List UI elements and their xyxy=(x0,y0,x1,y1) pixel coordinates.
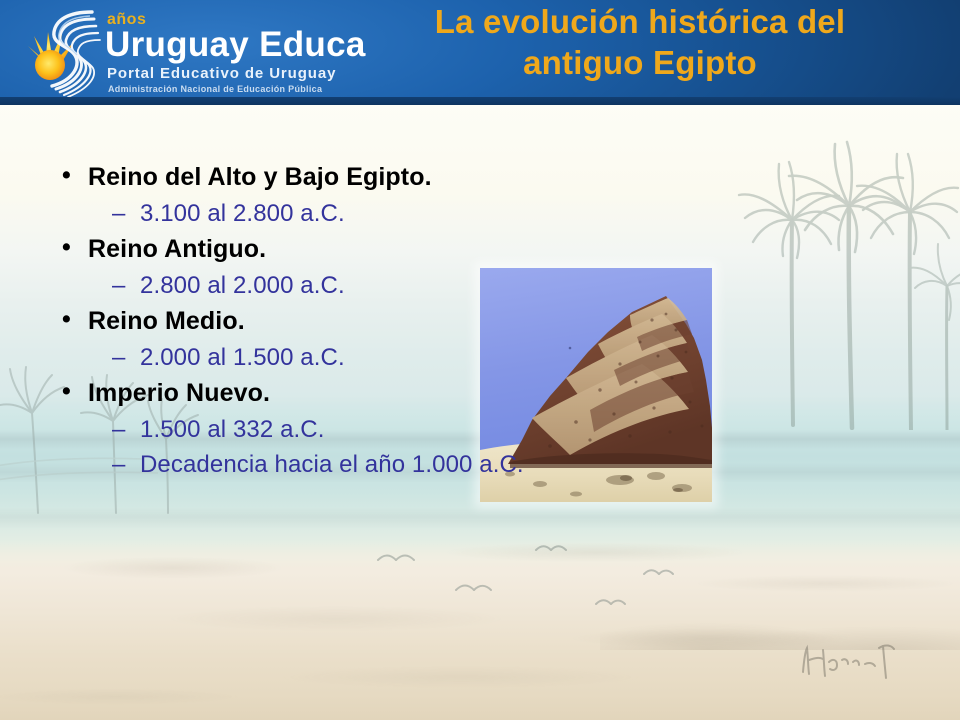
list-item: Reino del Alto y Bajo Egipto. xyxy=(0,160,960,194)
slide-title-line-1: La evolución histórica del xyxy=(340,2,940,43)
list-item: Reino Medio. xyxy=(0,304,960,338)
slide: años Uruguay Educa Portal Educativo de U… xyxy=(0,0,960,720)
list-item: 1.500 al 332 a.C. xyxy=(0,413,960,446)
list-item: 2.000 al 1.500 a.C. xyxy=(0,341,960,374)
list-item: 3.100 al 2.800 a.C. xyxy=(0,197,960,230)
list-item: Imperio Nuevo. xyxy=(0,376,960,410)
list-item: Decadencia hacia el año 1.000 a.C. xyxy=(0,448,960,481)
background-dune-ridge xyxy=(600,560,960,650)
list-item: Reino Antiguo. xyxy=(0,232,960,266)
slide-title-line-2: antiguo Egipto xyxy=(340,43,940,84)
logo-institution: Administración Nacional de Educación Púb… xyxy=(108,85,322,94)
faded-signature-mark xyxy=(795,638,915,682)
logo-brand-name: Uruguay Educa xyxy=(105,27,366,62)
background-sand-texture xyxy=(0,525,960,720)
logo-wordmark: años Uruguay Educa Portal Educativo de U… xyxy=(104,10,336,102)
uruguay-educa-logo[interactable]: años Uruguay Educa Portal Educativo de U… xyxy=(8,4,338,102)
slide-body: Reino del Alto y Bajo Egipto. 3.100 al 2… xyxy=(0,160,960,484)
uruguay-educa-sun-logo-icon xyxy=(12,6,104,100)
outline-list: Reino del Alto y Bajo Egipto. 3.100 al 2… xyxy=(0,160,960,482)
logo-tagline: Portal Educativo de Uruguay xyxy=(107,66,336,81)
shore-birds-icon xyxy=(360,530,690,640)
slide-title: La evolución histórica del antiguo Egipt… xyxy=(340,2,940,84)
background-sand xyxy=(0,540,960,720)
header-bottom-edge xyxy=(0,97,960,105)
list-item: 2.800 al 2.000 a.C. xyxy=(0,269,960,302)
